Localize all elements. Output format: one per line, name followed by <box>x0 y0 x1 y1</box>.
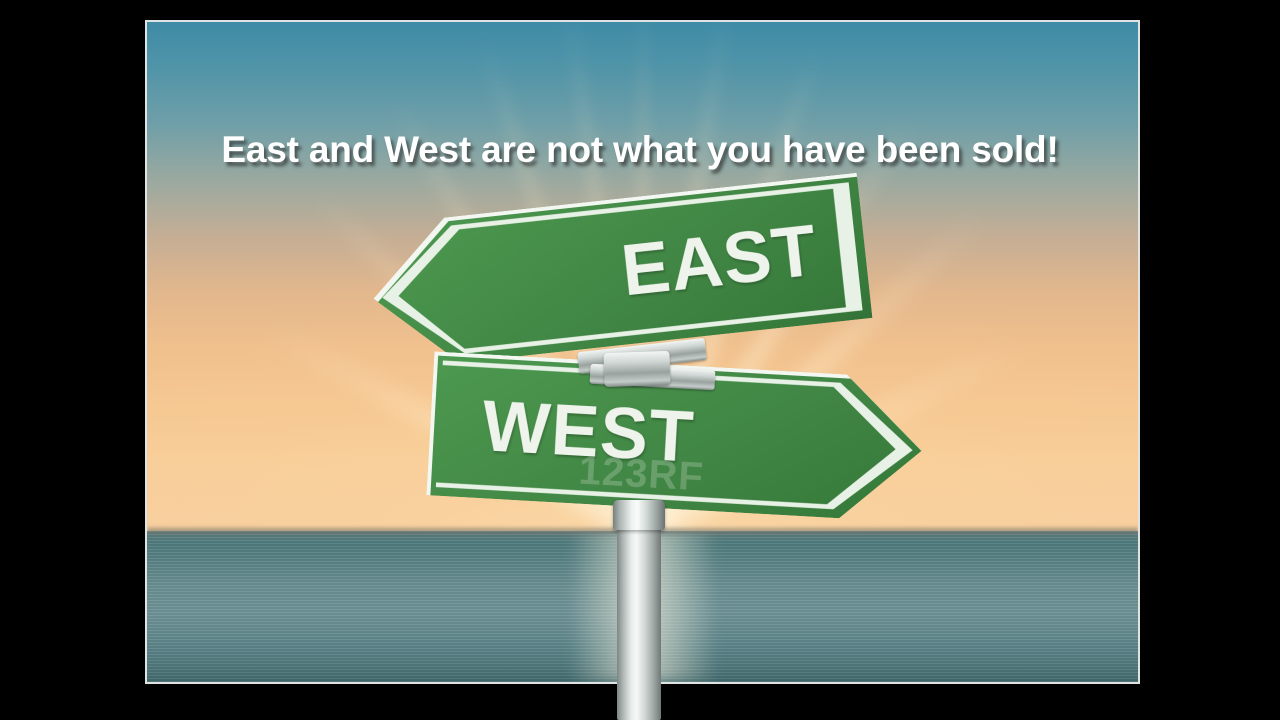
sign-bracket-center <box>603 351 670 387</box>
sign-post-collar <box>613 500 665 530</box>
sign-post <box>617 505 661 720</box>
slide-stage: East and West are not what you have been… <box>0 0 1280 720</box>
page-title: East and West are not what you have been… <box>0 129 1280 171</box>
